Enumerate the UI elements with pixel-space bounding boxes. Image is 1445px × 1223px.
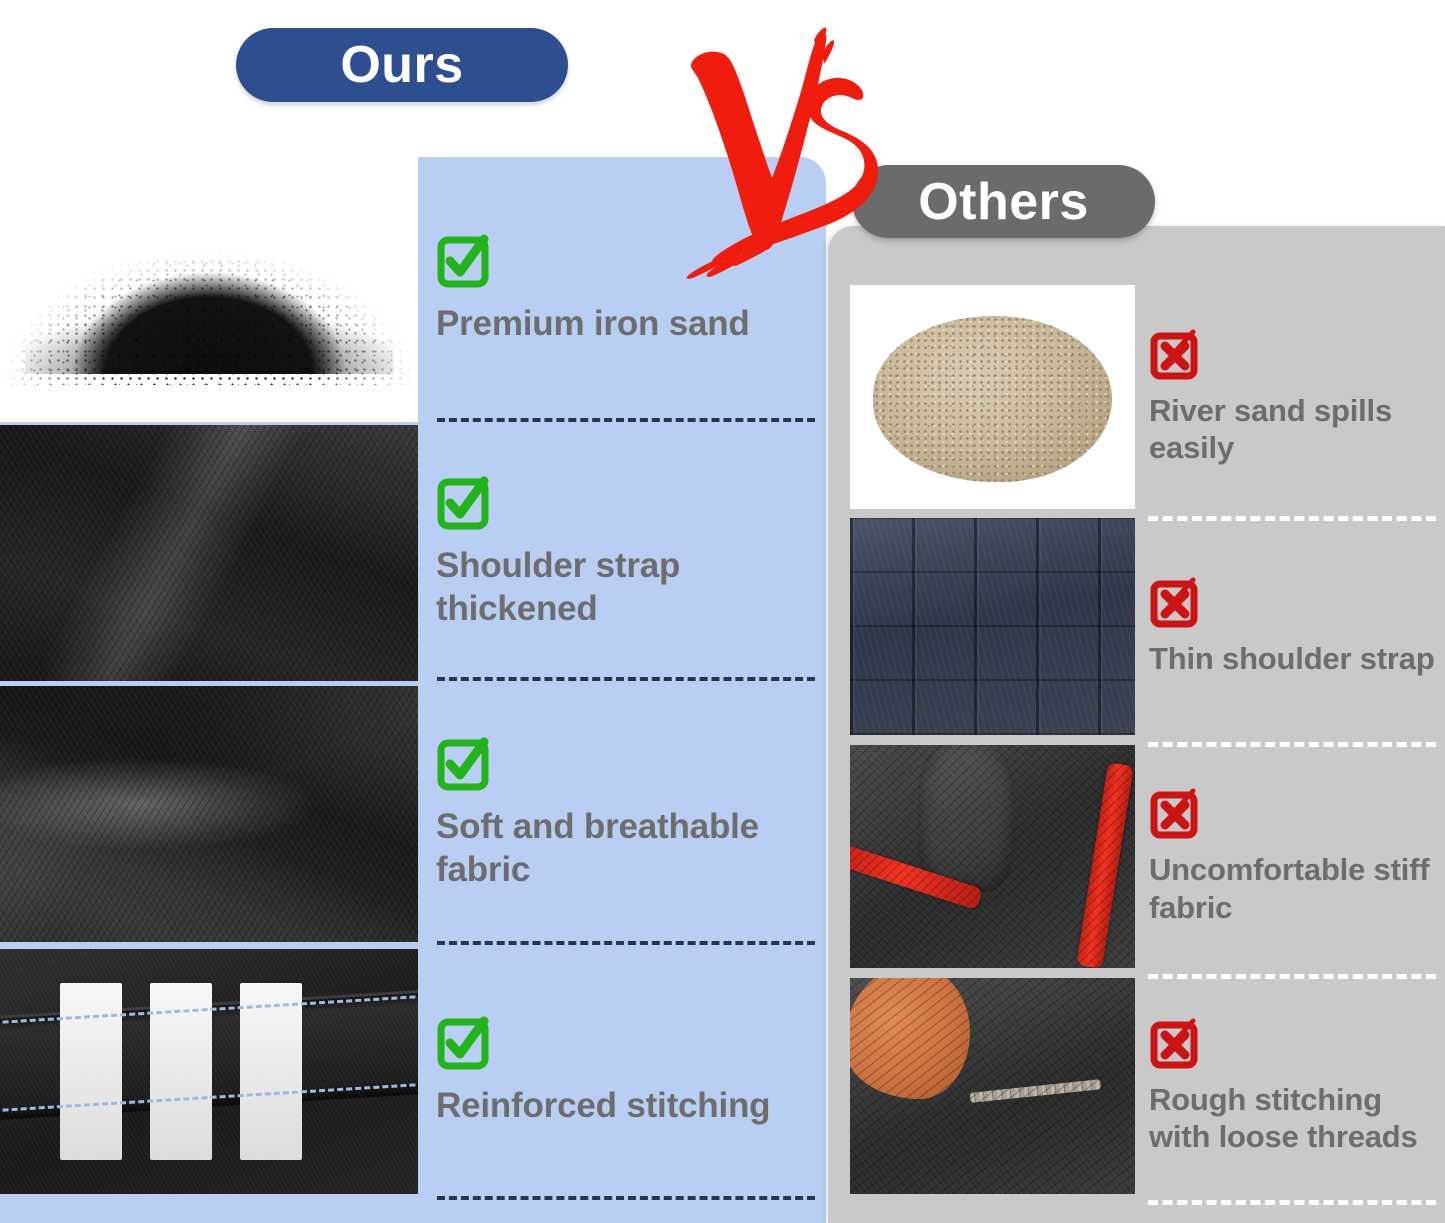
ours-content-2: Shoulder strap thickened xyxy=(418,425,826,681)
ours-row-4: Reinforced stitching xyxy=(0,949,826,1194)
comparison-infographic: Premium iron sand Shoulder strap thicken… xyxy=(0,0,1445,1223)
ours-label-2: Shoulder strap thickened xyxy=(436,545,810,630)
ours-row-1: Premium iron sand xyxy=(0,157,826,422)
others-image-1 xyxy=(850,285,1135,509)
ours-badge-label: Ours xyxy=(340,35,463,95)
cross-square-icon xyxy=(1149,328,1435,380)
others-row-3: Uncomfortable stiff fabric xyxy=(828,745,1445,968)
others-content-2: Thin shoulder strap xyxy=(1135,518,1445,735)
others-image-4 xyxy=(850,978,1135,1194)
others-badge-label: Others xyxy=(918,172,1089,232)
ours-divider-3 xyxy=(437,941,815,945)
others-label-1: River sand spills easily xyxy=(1149,392,1435,466)
ours-divider-1 xyxy=(437,418,815,422)
others-row-4: Rough stitching with loose threads xyxy=(828,978,1445,1194)
ours-label-4: Reinforced stitching xyxy=(436,1085,810,1128)
others-label-2: Thin shoulder strap xyxy=(1149,640,1435,677)
check-square-icon xyxy=(436,233,810,289)
others-label-4: Rough stitching with loose threads xyxy=(1149,1081,1435,1155)
ours-image-2 xyxy=(0,425,418,681)
others-row-2: Thin shoulder strap xyxy=(828,518,1445,735)
others-label-3: Uncomfortable stiff fabric xyxy=(1149,851,1435,925)
ours-image-1 xyxy=(0,157,418,422)
others-content-4: Rough stitching with loose threads xyxy=(1135,978,1445,1194)
others-content-3: Uncomfortable stiff fabric xyxy=(1135,745,1445,968)
ours-image-3 xyxy=(0,686,418,942)
cross-square-icon xyxy=(1149,576,1435,628)
check-square-icon xyxy=(436,1015,810,1071)
check-square-icon xyxy=(436,475,810,531)
others-image-2 xyxy=(850,518,1135,735)
others-content-1: River sand spills easily xyxy=(1135,285,1445,509)
ours-row-3: Soft and breathable fabric xyxy=(0,686,826,942)
cross-square-icon xyxy=(1149,1017,1435,1069)
ours-content-3: Soft and breathable fabric xyxy=(418,686,826,942)
ours-divider-4 xyxy=(437,1196,815,1200)
ours-content-1: Premium iron sand xyxy=(418,157,826,422)
ours-label-3: Soft and breathable fabric xyxy=(436,806,810,891)
ours-row-2: Shoulder strap thickened xyxy=(0,425,826,681)
others-row-1: River sand spills easily xyxy=(828,285,1445,509)
cross-square-icon xyxy=(1149,787,1435,839)
ours-divider-2 xyxy=(437,677,815,681)
others-image-3 xyxy=(850,745,1135,968)
ours-image-4 xyxy=(0,949,418,1194)
others-divider-4 xyxy=(1148,1200,1436,1205)
ours-badge: Ours xyxy=(236,28,568,102)
check-square-icon xyxy=(436,736,810,792)
others-badge: Others xyxy=(852,165,1155,238)
ours-label-1: Premium iron sand xyxy=(436,303,810,346)
ours-content-4: Reinforced stitching xyxy=(418,949,826,1194)
